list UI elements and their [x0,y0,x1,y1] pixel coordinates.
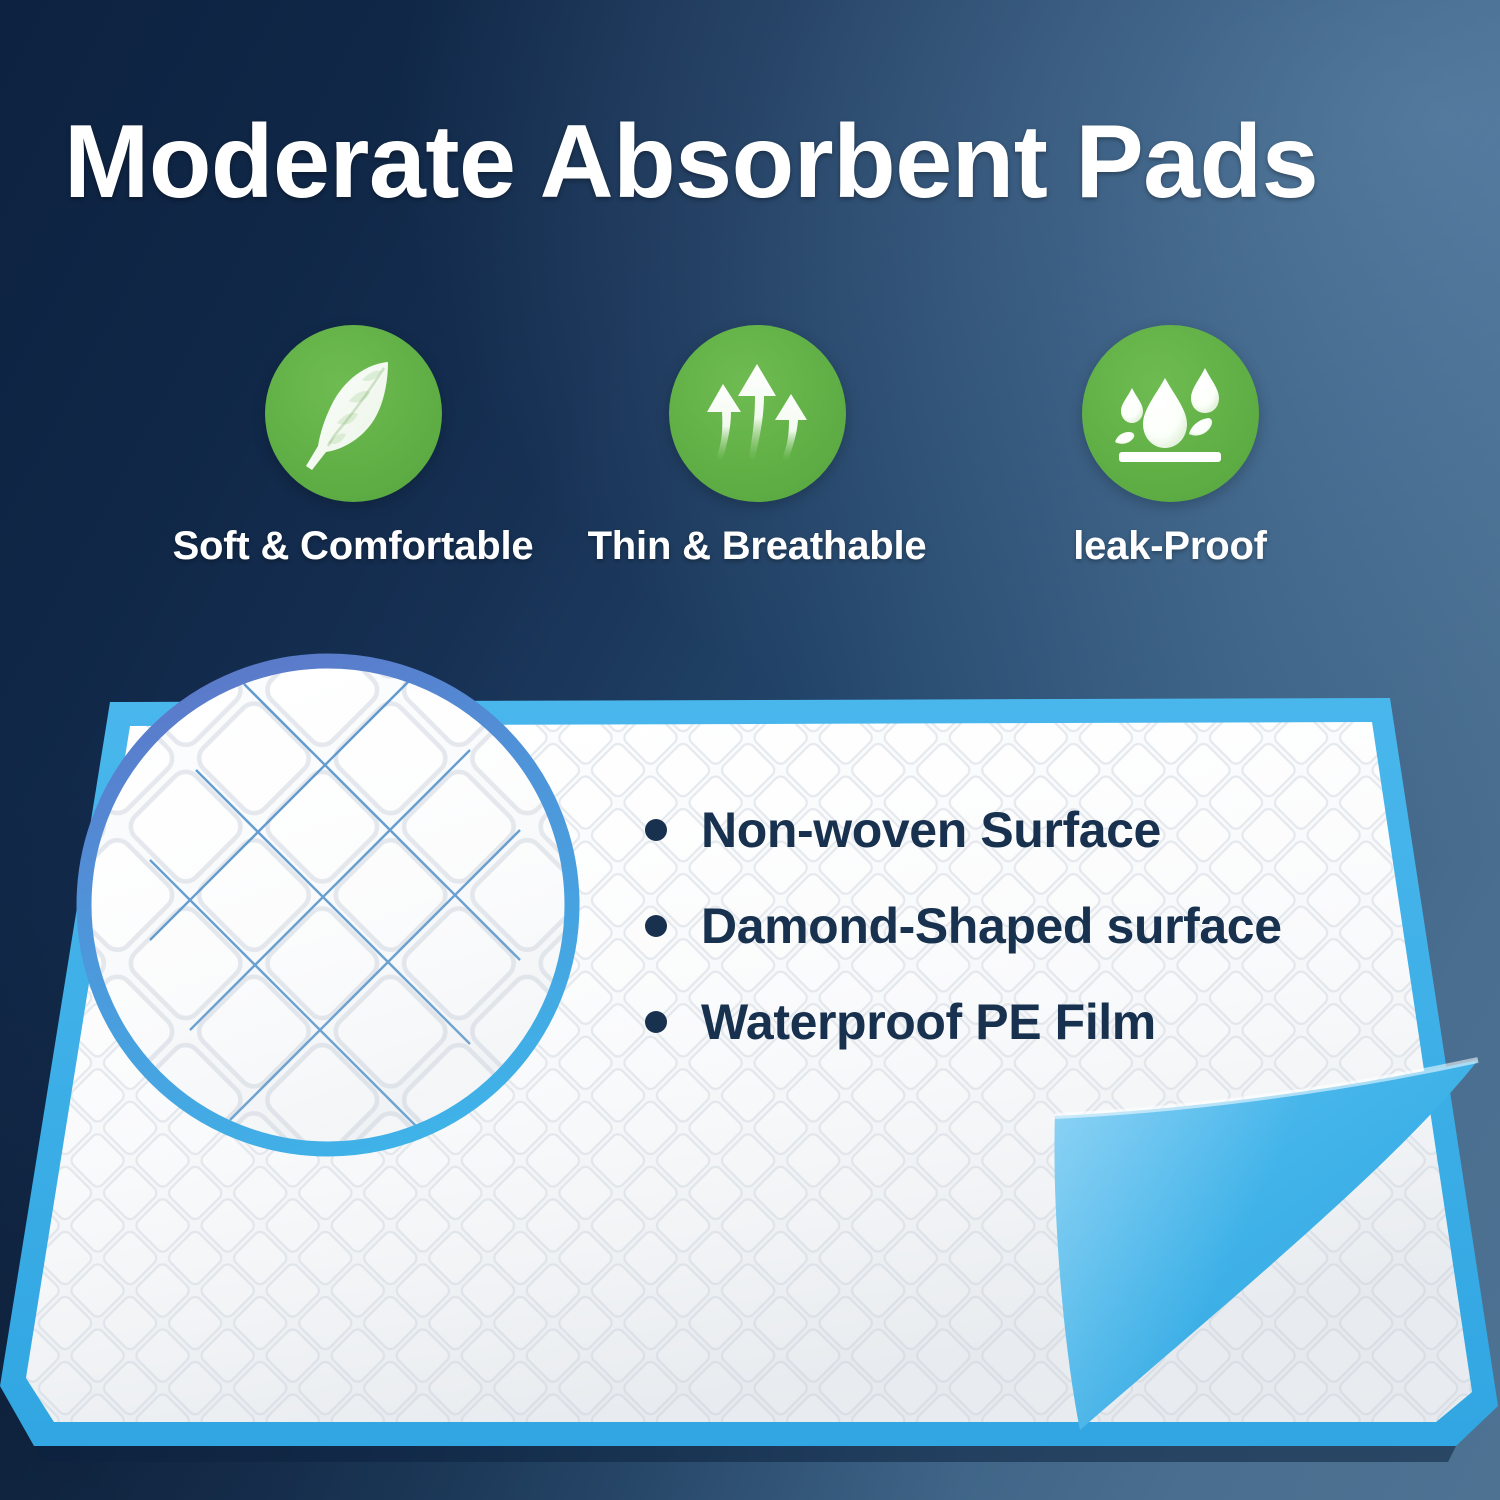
list-item: Waterproof PE Film [645,974,1435,1070]
feature-thin-breathable: Thin & Breathable [547,320,967,569]
up-arrows-icon [697,354,817,474]
product-image [0,640,1500,1500]
feature-label: Soft & Comfortable [143,524,563,569]
bullet-dot-icon [645,1011,667,1033]
feature-label: Thin & Breathable [547,524,967,569]
feature-list: Soft & Comfortable [0,320,1500,590]
feature-bullet-list: Non-woven Surface Damond-Shaped surface … [645,782,1435,1070]
bullet-dot-icon [645,819,667,841]
water-droplets-icon [1109,356,1231,472]
feather-icon [298,354,408,474]
list-item: Damond-Shaped surface [645,878,1435,974]
feature-soft-comfortable: Soft & Comfortable [143,320,563,569]
bullet-label: Waterproof PE Film [701,993,1156,1051]
page-title: Moderate Absorbent Pads [64,106,1443,218]
pad-shadow [34,1446,1456,1462]
feature-leak-proof: leak-Proof [960,320,1380,569]
list-item: Non-woven Surface [645,782,1435,878]
feature-icon-badge [1082,325,1259,502]
feature-icon-badge [265,325,442,502]
absorbent-pad-illustration [0,640,1500,1500]
feature-label: leak-Proof [960,524,1380,569]
bullet-label: Non-woven Surface [701,801,1161,859]
feature-icon-badge [669,325,846,502]
product-infographic: Moderate Absorbent Pads [0,0,1500,1500]
bullet-dot-icon [645,915,667,937]
bullet-label: Damond-Shaped surface [701,897,1282,955]
